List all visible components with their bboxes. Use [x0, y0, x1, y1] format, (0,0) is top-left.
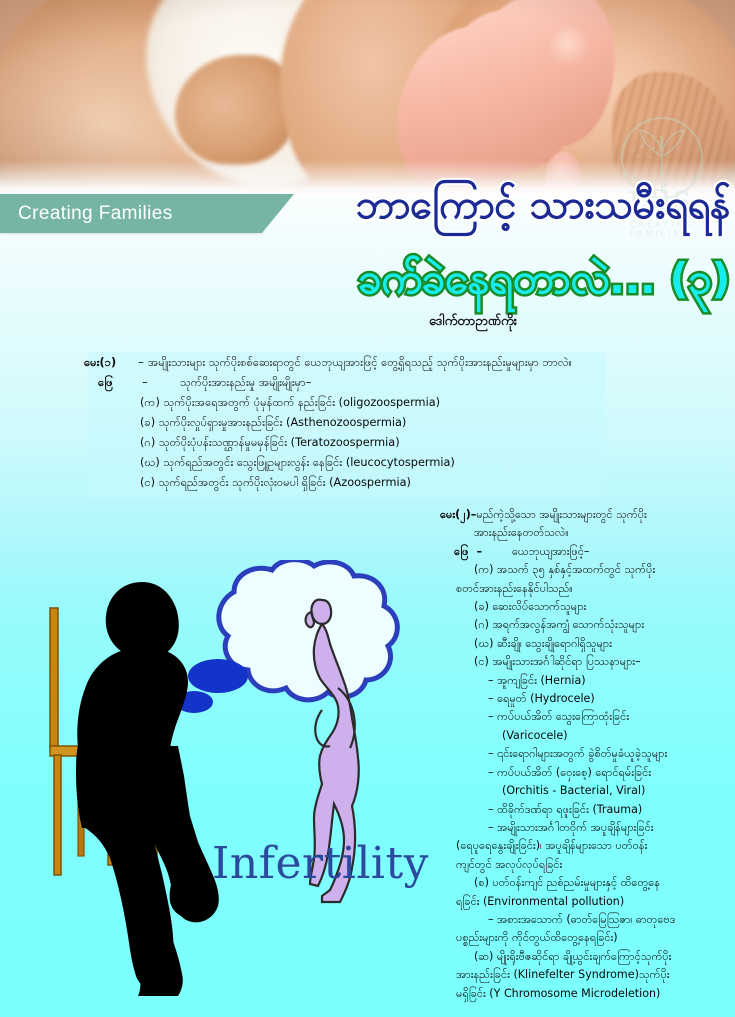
qa2-line: ရခြင်း (Environmental pollution)	[432, 893, 732, 911]
header-photo	[0, 0, 735, 196]
qa2-line: စတင်အားနည်းနေနိုင်ပါသည်။	[432, 580, 732, 598]
qa-section-1: မေး(၁) – အမျိုးသားများ သုက်ပိုးစစ်ဆေးရာတ…	[84, 354, 644, 493]
qa2-line: – ရေမှုတ် (Hydrocele)	[432, 690, 732, 708]
qa2-line: – ၎င်းရောဂါများအတွက် ခွဲစိတ်မှုခံယူခဲ့သူ…	[432, 745, 732, 763]
qa2-line: (ဂ) အရက်အလွန်အကျွံ သောက်သုံးသူများ	[432, 616, 732, 634]
qa1-question-dash: –	[134, 354, 148, 373]
qa2-line: (ခ) ဆေးလိပ်သောက်သူများ	[432, 598, 732, 616]
infertility-illustration: Infertility	[22, 560, 422, 1008]
thought-dot-large	[188, 659, 248, 693]
qa1-item: (ဃ) သုက်ရည်အတွင်း သွေးဖြူဥများလွန်း နေခြ…	[84, 454, 644, 473]
qa1-answer-row: ဖြေ – သုက်ပိုးအားနည်းမှု အမျိုးမျိုးမှာ–	[84, 374, 644, 393]
qa2-line: (ဃ) ဆီးချို၊ သွေးချိုရောဂါရှိသူများ	[432, 635, 732, 653]
qa2-line: – ကပ်ပယ်အိတ် သွေးကြောထုံးခြင်း	[432, 708, 732, 726]
qa2-question-text-1: မည်ကဲ့သို့သော အမျိုးသားများတွင် သုက်ပိုး	[476, 508, 647, 521]
qa2-line: (ရေပူရေနွေးချိုးခြင်း)၊ အပူချိန်များသော …	[432, 837, 732, 855]
seated-man-silhouette	[76, 582, 219, 996]
ribbon-tail	[262, 194, 294, 233]
qa2-line: (က) အသက် ၃၅ နှစ်နှင့်အထက်တွင် သုက်ပိုး	[432, 561, 732, 579]
qa2-line: (စ) ပတ်ဝန်းကျင် ညစ်ညမ်းမှုများနှင့် ထိတွ…	[432, 874, 732, 892]
qa1-question-row: မေး(၁) – အမျိုးသားများ သုက်ပိုးစစ်ဆေးရာတ…	[84, 354, 644, 373]
qa2-line: – အမျိုးသားအင်္ဂါတဝိုက် အပူချိန်များခြင်…	[432, 819, 732, 837]
qa2-question-line: မေး(၂)–မည်ကဲ့သို့သော အမျိုးသားများတွင် သ…	[432, 506, 732, 524]
qa2-line: – ထိခိုက်ဒဏ်ရာ ရဖူးခြင်း (Trauma)	[432, 801, 732, 819]
qa-section-2: မေး(၂)–မည်ကဲ့သို့သော အမျိုးသားများတွင် သ…	[432, 506, 732, 1003]
qa2-line: အားနည်းခြင်း (Klinefelter Syndrome)သုက်ပ…	[432, 966, 732, 984]
qa2-answer-label: ဖြေ	[454, 545, 468, 558]
author-byline: ဒေါက်တာဉာဏ်ကိုး	[300, 313, 730, 332]
qa1-item: (င) သုက်ရည်အတွင်း သုက်ပိုးလုံးဝမပါ ရှိခြ…	[84, 474, 644, 493]
illustration-svg	[22, 560, 422, 1008]
qa1-answer-intro: သုက်ပိုးအားနည်းမှု အမျိုးမျိုးမှာ–	[152, 374, 311, 393]
qa2-line: ပစ္စည်းများကို ကိုင်တွယ်ထိတွေ့နေရခြင်း)	[432, 929, 732, 947]
page-title-line2: ခက်ခဲနေရတာလဲ... (၃)	[300, 250, 730, 312]
qa2-line: (ဆ) မျိုးရိုးဗီဇဆိုင်ရာ ချို့ယွင်းချက်ကြ…	[432, 948, 732, 966]
qa1-answer-label: ဖြေ	[84, 374, 138, 393]
illustration-caption: Infertility	[212, 838, 429, 889]
qa1-item: (ဂ) သုတ်ပိုးပုံပန်းသဏ္ဌာန်မှုမမှန်ခြင်း …	[84, 434, 644, 453]
qa2-line: – အူကျခြင်း (Hernia)	[432, 672, 732, 690]
qa2-answer-line: ဖြေ–ယေဘုယျအားဖြင့်–	[432, 543, 732, 561]
qa2-line: – ကပ်ပယ်အိတ် (ဝှေးစေ့) ရောင်ရမ်းခြင်း	[432, 764, 732, 782]
qa1-item: (က) သုက်ပိုးအရေအတွက် ပုံမှန်ထက် နည်းခြင်…	[84, 394, 644, 413]
qa2-line: ကျင်တွင် အလုပ်လုပ်ရခြင်း	[432, 856, 732, 874]
qa1-answer-dash: –	[138, 374, 152, 393]
qa2-line: (Orchitis - Bacterial, Viral)	[432, 782, 732, 800]
qa1-item: (ခ) သုက်ပိုးလှုပ်ရှားမှုအားနည်းခြင်း (As…	[84, 414, 644, 433]
qa2-answer-dash: –	[468, 545, 490, 558]
qa2-line: – အစားအသောက် (ဓာတ်မြေသြဇာ၊ ဓာတုဗေဒ	[432, 911, 732, 929]
creating-families-ribbon: Creating Families	[0, 194, 262, 233]
qa2-line: (င) အမျိုးသားအင်္ဂါဆိုင်ရာ ပြဿနာများ–	[432, 653, 732, 671]
qa2-question-label: မေး(၂)	[440, 508, 471, 521]
ribbon-label: Creating Families	[18, 203, 173, 225]
qa2-line: (Varicocele)	[432, 727, 732, 745]
qa2-question-text-2: အားနည်းနေတတ်သလဲ။	[432, 524, 732, 542]
qa2-answer-intro: ယေဘုယျအားဖြင့်–	[490, 545, 589, 558]
qa1-question-text: အမျိုးသားများ သုက်ပိုးစစ်ဆေးရာတွင် ယေဘုယ…	[148, 354, 572, 373]
page-root: isis CREATING FAMILIES Creating Families…	[0, 0, 735, 1017]
qa1-question-label: မေး(၁)	[84, 354, 134, 373]
qa2-line: မရှိခြင်း (Y Chromosome Microdeletion)	[432, 985, 732, 1003]
page-title-line1: ဘာကြောင့် သားသမီးရရန်	[310, 176, 730, 238]
